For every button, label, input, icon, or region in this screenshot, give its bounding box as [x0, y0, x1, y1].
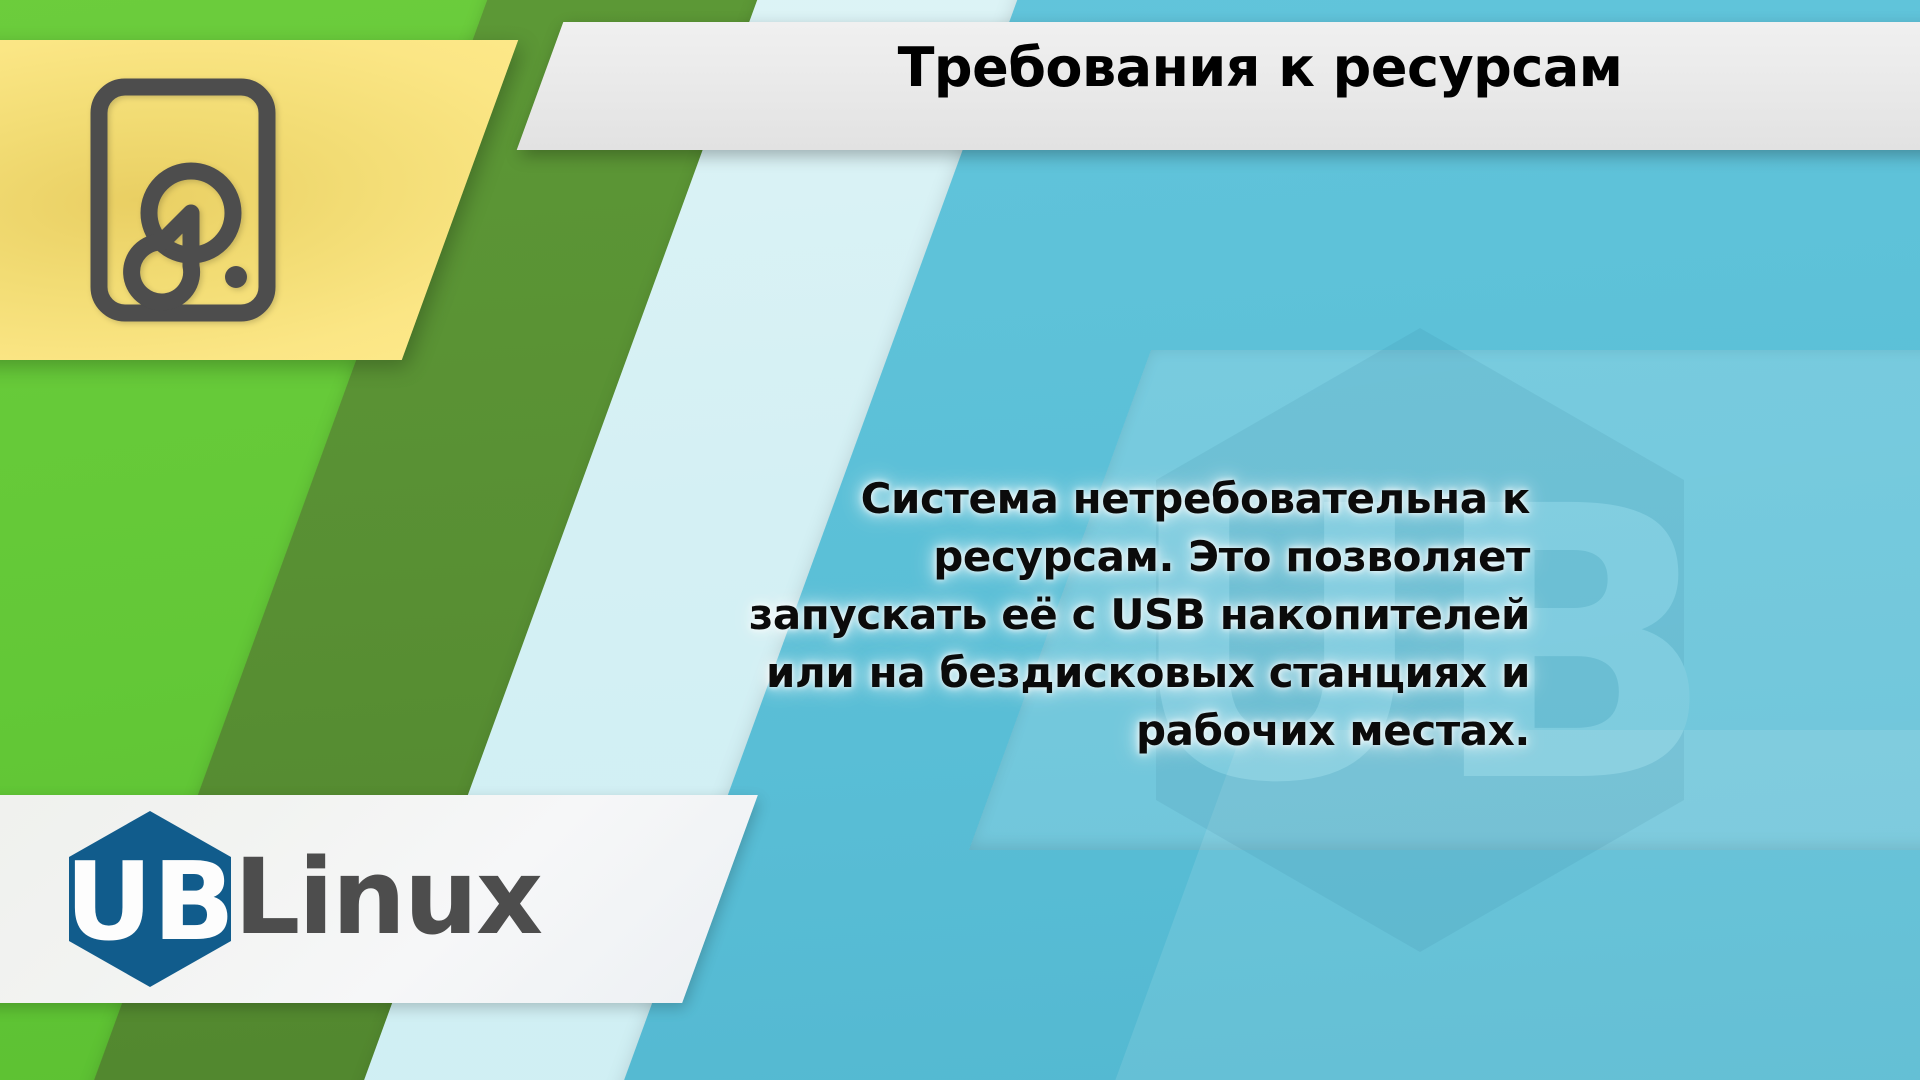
logo-mark-letters: UB [65, 840, 235, 965]
ub-hexagon-logo-mark: UB [64, 808, 236, 990]
slide-body-text: Система нетребовательна к ресурсам. Это … [700, 470, 1530, 760]
ub-linux-logo: UB Linux [64, 808, 541, 990]
slide-canvas: UB Требования к ресурсам Система нетребо… [0, 0, 1920, 1080]
hard-disk-drive-icon [88, 76, 278, 324]
logo-wordmark: Linux [234, 845, 541, 949]
page-title: Требования к ресурсам [640, 34, 1880, 102]
